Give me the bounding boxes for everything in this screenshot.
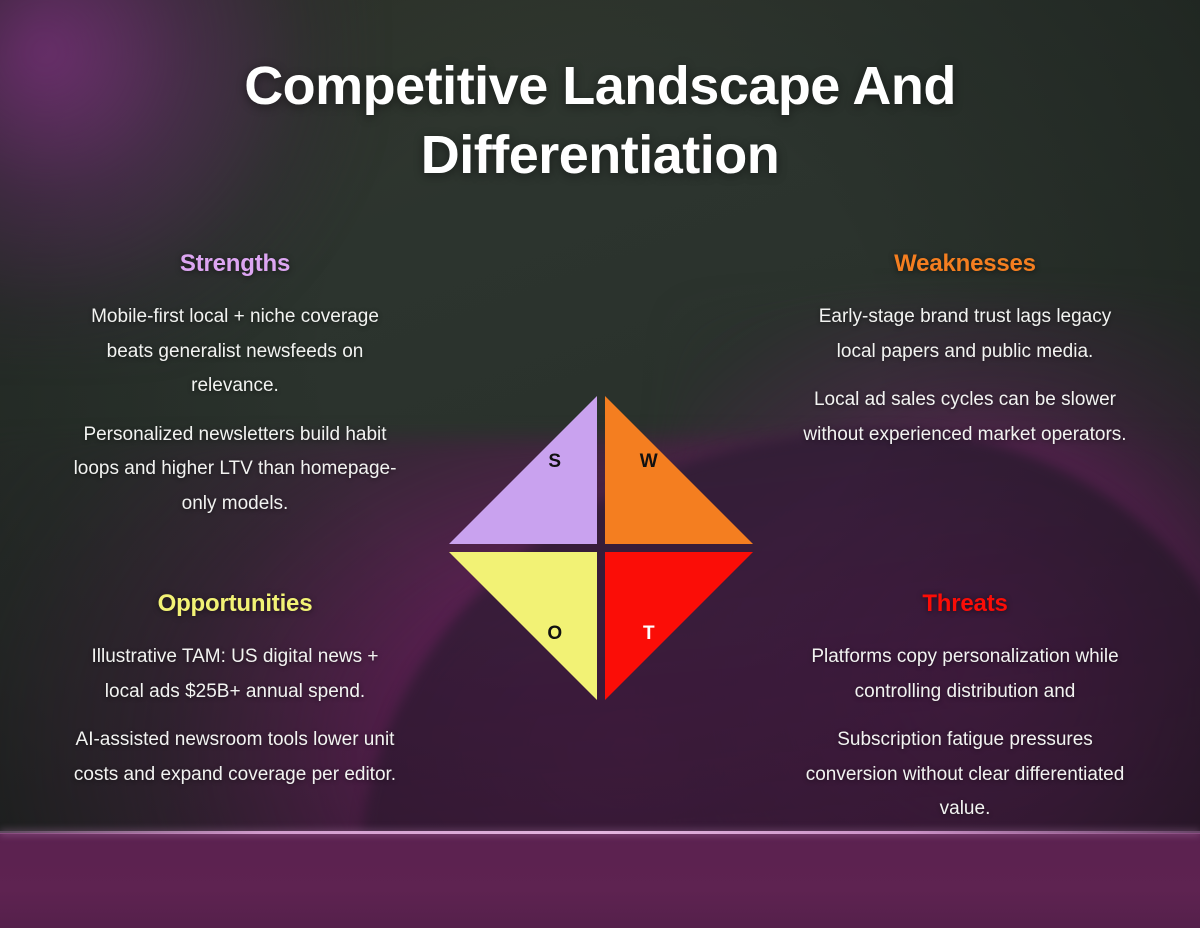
- swot-segment-strengths[interactable]: S: [449, 396, 597, 544]
- quadrant-threats: Threats Platforms copy personalization w…: [800, 590, 1130, 827]
- strengths-heading: Strengths: [70, 250, 400, 278]
- swot-segment-opportunities[interactable]: O: [449, 552, 597, 700]
- swot-segment-label-o: O: [547, 623, 562, 645]
- swot-segment-weaknesses[interactable]: W: [605, 396, 753, 544]
- swot-segment-label-t: T: [643, 623, 655, 645]
- swot-segment-label-w: W: [640, 451, 658, 473]
- slide-content: Competitive Landscape And Differentiatio…: [0, 0, 1200, 928]
- swot-segment-label-s: S: [548, 451, 561, 473]
- strengths-point-2: Personalized newsletters build habit loo…: [70, 418, 400, 522]
- strengths-point-1: Mobile-first local + niche coverage beat…: [70, 300, 400, 404]
- opportunities-body: Illustrative TAM: US digital news + loca…: [70, 640, 400, 792]
- weaknesses-heading: Weaknesses: [800, 250, 1130, 278]
- threats-body: Platforms copy personalization while con…: [800, 640, 1130, 827]
- strengths-body: Mobile-first local + niche coverage beat…: [70, 300, 400, 521]
- swot-slide: Competitive Landscape And Differentiatio…: [0, 0, 1200, 928]
- threats-heading: Threats: [800, 590, 1130, 618]
- page-title: Competitive Landscape And Differentiatio…: [140, 52, 1060, 190]
- opportunities-point-1: Illustrative TAM: US digital news + loca…: [70, 640, 400, 709]
- opportunities-heading: Opportunities: [70, 590, 400, 618]
- quadrant-weaknesses: Weaknesses Early-stage brand trust lags …: [800, 250, 1130, 452]
- threats-point-2: Subscription fatigue pressures conversio…: [800, 723, 1130, 827]
- opportunities-point-2: AI-assisted newsroom tools lower unit co…: [70, 723, 400, 792]
- weaknesses-point-1: Early-stage brand trust lags legacy loca…: [800, 300, 1130, 369]
- threats-point-1: Platforms copy personalization while con…: [800, 640, 1130, 709]
- swot-diamond-diagram: S W O T: [449, 396, 753, 700]
- quadrant-strengths: Strengths Mobile-first local + niche cov…: [70, 250, 400, 521]
- swot-segment-threats[interactable]: T: [605, 552, 753, 700]
- quadrant-opportunities: Opportunities Illustrative TAM: US digit…: [70, 590, 400, 792]
- weaknesses-point-2: Local ad sales cycles can be slower with…: [800, 383, 1130, 452]
- weaknesses-body: Early-stage brand trust lags legacy loca…: [800, 300, 1130, 452]
